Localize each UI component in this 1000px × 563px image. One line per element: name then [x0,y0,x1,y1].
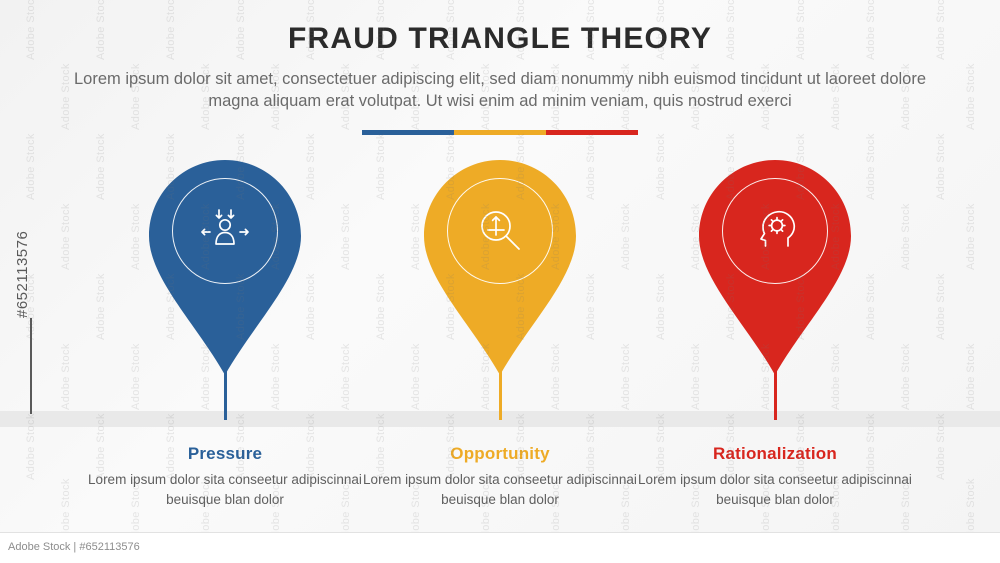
caption-title-pressure: Pressure [85,444,365,464]
pin-pressure[interactable] [125,160,325,425]
caption-title-opportunity: Opportunity [360,444,640,464]
caption-desc-opportunity: Lorem ipsum dolor sita conseetur adipisc… [360,470,640,509]
footer-text: Adobe Stock | #652113576 [8,541,140,553]
stock-id-bar [30,318,32,414]
stock-id-label: #652113576 [14,231,31,318]
divider-segment-red [546,130,638,135]
caption-opportunity: Opportunity Lorem ipsum dolor sita conse… [360,444,640,509]
pin-needle-opportunity [499,368,502,420]
page-subtitle: Lorem ipsum dolor sit amet, consectetuer… [60,68,940,113]
pin-rationalization[interactable] [675,160,875,425]
person-pressure-arrows-icon [194,200,256,262]
caption-desc-rationalization: Lorem ipsum dolor sita conseetur adipisc… [635,470,915,509]
pin-needle-pressure [224,368,227,420]
icon-ring-opportunity [447,178,553,284]
page-title: FRAUD TRIANGLE THEORY [0,22,1000,56]
divider-segment-yellow [454,130,546,135]
divider-segment-blue [362,130,454,135]
tri-color-divider [362,130,638,135]
footer-bar: Adobe Stock | #652113576 [0,532,1000,563]
caption-desc-pressure: Lorem ipsum dolor sita conseetur adipisc… [85,470,365,509]
pin-needle-rationalization [774,368,777,420]
icon-ring-rationalization [722,178,828,284]
watermark-text: Adobe Stock [965,63,977,130]
magnifier-arrows-icon [469,200,531,262]
caption-title-rationalization: Rationalization [635,444,915,464]
head-gear-icon [744,200,806,262]
pin-group [0,160,1000,420]
caption-rationalization: Rationalization Lorem ipsum dolor sita c… [635,444,915,509]
watermark-text: Adobe Stock [0,63,2,130]
icon-ring-pressure [172,178,278,284]
caption-pressure: Pressure Lorem ipsum dolor sita conseetu… [85,444,365,509]
pin-opportunity[interactable] [400,160,600,425]
slide-canvas: FRAUD TRIANGLE THEORY Lorem ipsum dolor … [0,0,1000,563]
